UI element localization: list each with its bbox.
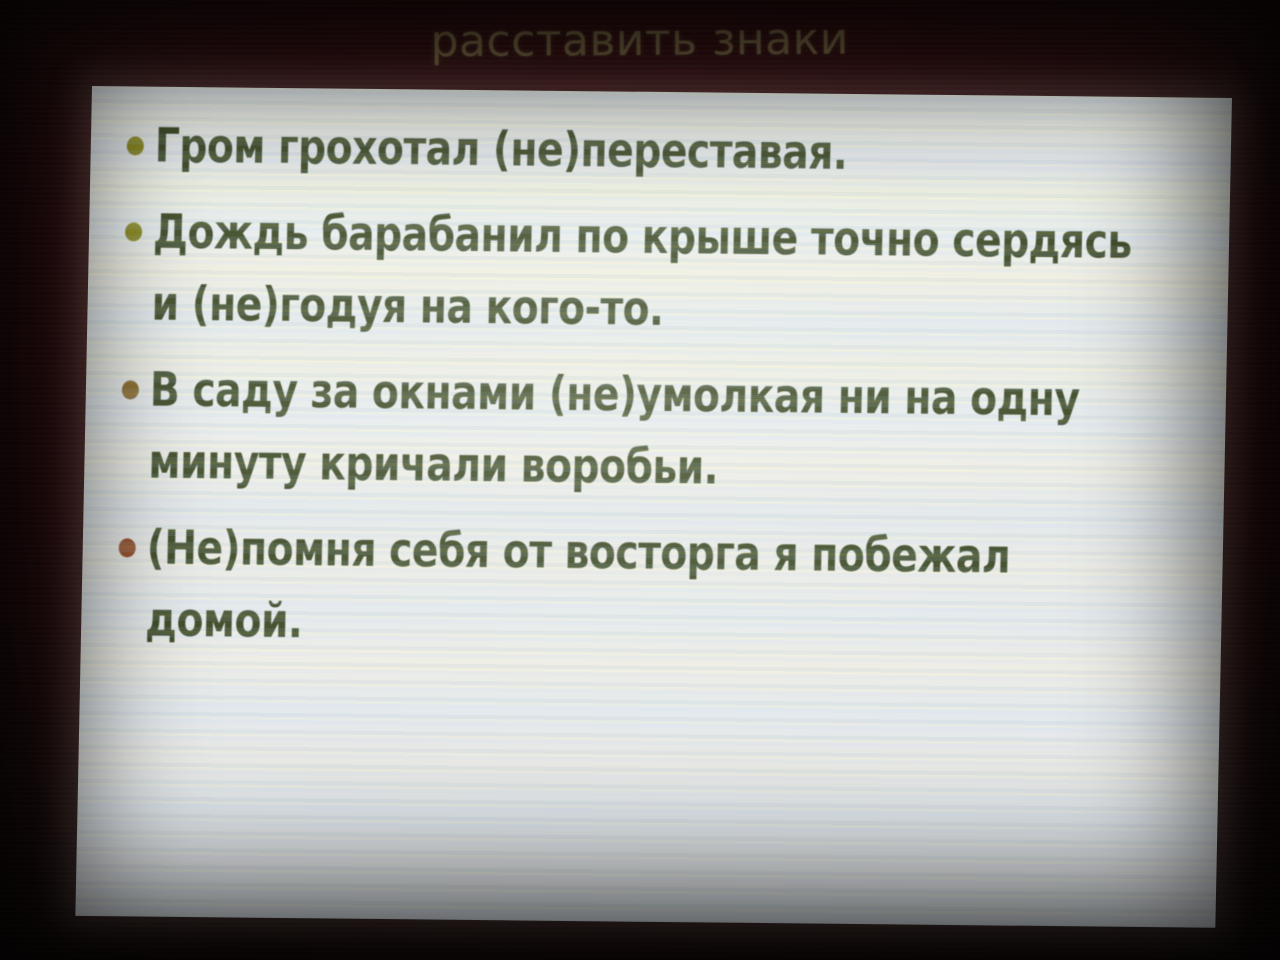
projected-slide-photograph: расставить знаки препинания. Гром грохот… xyxy=(0,0,1280,960)
list-item-text: (Не)помня себя от восторга я побежал дом… xyxy=(145,513,1136,667)
list-item: В саду за окнами (не)умолкая ни на одну … xyxy=(120,354,1213,509)
bullet-dot-icon xyxy=(125,222,142,241)
list-item-text: В саду за окнами (не)умолкая ни на одну … xyxy=(148,355,1139,509)
slide-title-line-clipped: расставить знаки xyxy=(0,12,1280,70)
list-item: Дождь барабанил по крыше точно сердясь и… xyxy=(123,196,1216,351)
bullet-dot-icon xyxy=(127,136,144,155)
slide-content-panel: Гром грохотал (не)переставая. Дождь бара… xyxy=(75,86,1232,928)
bullet-dot-icon xyxy=(119,538,136,557)
list-item-text: Гром грохотал (не)переставая. xyxy=(154,111,848,190)
bullet-list: Гром грохотал (не)переставая. Дождь бара… xyxy=(116,110,1217,681)
list-item: (Не)помня себя от восторга я побежал дом… xyxy=(117,512,1210,667)
list-item-text: Дождь барабанил по крыше точно сердясь и… xyxy=(151,197,1142,351)
slide-content-panel-wrapper: Гром грохотал (не)переставая. Дождь бара… xyxy=(75,86,1232,928)
bullet-dot-icon xyxy=(122,380,139,399)
list-item: Гром грохотал (не)переставая. xyxy=(126,110,1217,193)
